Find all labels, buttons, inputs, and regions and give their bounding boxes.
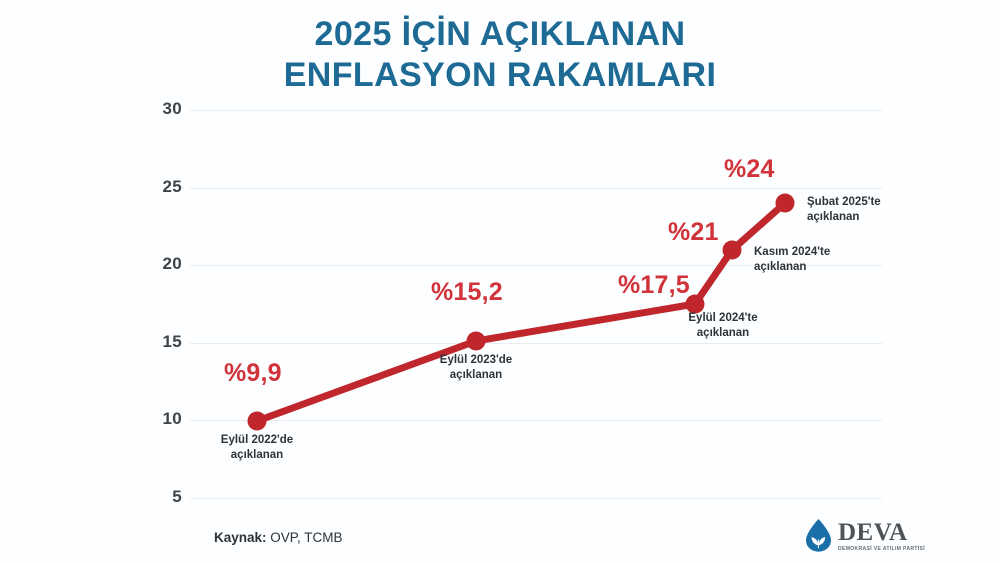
caption-line-2: açıklanan [807, 210, 931, 225]
line-chart: 30252015105 %9,9Eylül 2022'deaçıklanan%1… [0, 0, 1000, 563]
data-point-marker[interactable] [723, 241, 742, 260]
caption-line-2: açıklanan [754, 260, 878, 275]
data-point-value-label: %15,2 [431, 278, 503, 307]
source-value: OVP, TCMB [267, 530, 343, 545]
water-drop-icon [805, 519, 832, 552]
data-point-marker[interactable] [467, 332, 486, 351]
logo-name: DEVA [838, 520, 925, 545]
data-point-caption: Kasım 2024'teaçıklanan [754, 245, 878, 275]
caption-line-2: açıklanan [195, 448, 319, 463]
data-point-caption: Eylül 2024'teaçıklanan [661, 311, 785, 341]
caption-line-2: açıklanan [661, 326, 785, 341]
data-point-value-label: %9,9 [224, 359, 282, 388]
logo-tagline: DEMOKRASİ VE ATILIM PARTİSİ [838, 546, 925, 553]
data-point-caption: Şubat 2025'teaçıklanan [807, 195, 931, 225]
infographic-canvas: 2025 İÇİN AÇIKLANAN ENFLASYON RAKAMLARI … [0, 0, 1000, 563]
caption-line-1: Eylül 2023'de [414, 353, 538, 368]
caption-line-1: Eylül 2024'te [661, 311, 785, 326]
caption-line-1: Şubat 2025'te [807, 195, 931, 210]
caption-line-2: açıklanan [414, 368, 538, 383]
data-point-value-label: %21 [668, 218, 719, 247]
data-point-marker[interactable] [776, 194, 795, 213]
caption-line-1: Kasım 2024'te [754, 245, 878, 260]
data-point-caption: Eylül 2023'deaçıklanan [414, 353, 538, 383]
deva-logo: DEVA DEMOKRASİ VE ATILIM PARTİSİ [805, 518, 925, 554]
caption-line-1: Eylül 2022'de [195, 433, 319, 448]
source-label: Kaynak: [214, 530, 267, 545]
data-point-value-label: %24 [724, 155, 775, 184]
data-point-caption: Eylül 2022'deaçıklanan [195, 433, 319, 463]
source-note: Kaynak: OVP, TCMB [214, 530, 343, 545]
data-point-value-label: %17,5 [618, 271, 690, 300]
data-point-marker[interactable] [248, 412, 267, 431]
logo-wordmark: DEVA DEMOKRASİ VE ATILIM PARTİSİ [838, 520, 925, 553]
